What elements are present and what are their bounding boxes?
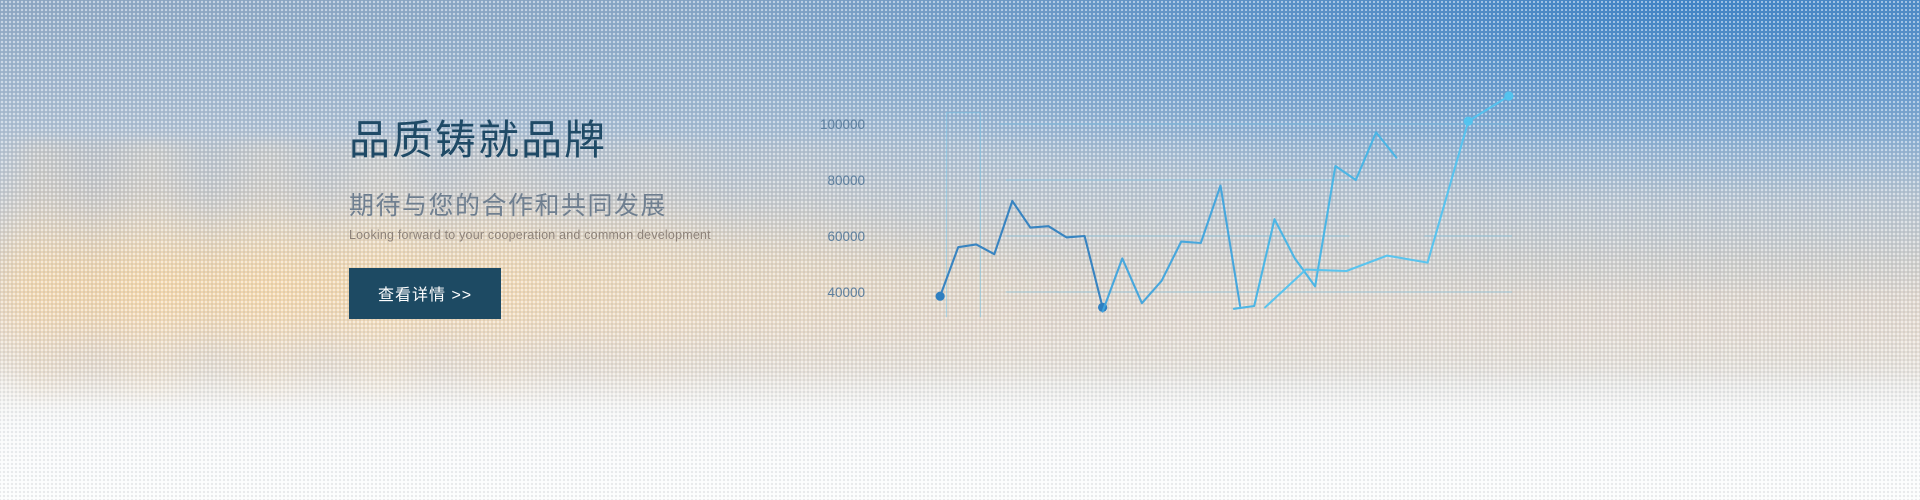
view-details-button[interactable]: 查看详情 >> xyxy=(349,268,501,319)
chart-data-point-marker xyxy=(936,292,945,301)
page-subtitle: 期待与您的合作和共同发展 xyxy=(349,186,769,222)
y-axis-tick-label: 80000 xyxy=(827,173,865,188)
chart-data-point-marker xyxy=(1464,117,1473,126)
statistics-line-chart: 100000800006000040000 xyxy=(757,72,1517,332)
hero-banner: 品质铸就品牌 期待与您的合作和共同发展 Looking forward to y… xyxy=(0,0,1920,500)
chart-line-series-2 xyxy=(1103,186,1241,312)
chart-line-series-1 xyxy=(940,201,1103,307)
page-title: 品质铸就品牌 xyxy=(349,118,769,164)
chart-canvas: 100000800006000040000 xyxy=(757,72,1517,332)
chart-data-point-marker xyxy=(1504,91,1513,100)
chart-line-series-3 xyxy=(1234,132,1397,308)
page-tagline: Looking forward to your cooperation and … xyxy=(349,228,769,242)
y-axis-tick-label: 100000 xyxy=(820,117,865,132)
hero-copy-block: 品质铸就品牌 期待与您的合作和共同发展 Looking forward to y… xyxy=(349,118,769,319)
y-axis-tick-label: 60000 xyxy=(827,229,865,244)
y-axis-tick-label: 40000 xyxy=(827,285,865,300)
chart-line-series-4 xyxy=(1265,96,1509,307)
